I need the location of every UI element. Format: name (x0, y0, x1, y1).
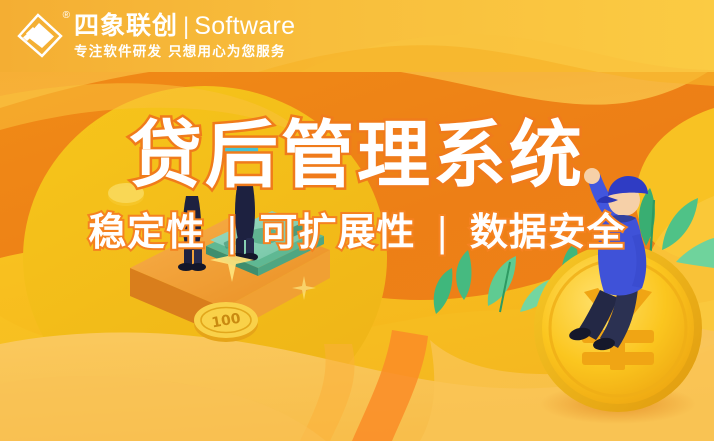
brand-name-cn: 四象联创 (74, 13, 178, 38)
small-coins (108, 183, 164, 240)
brand-row: 四象联创 | Software (74, 13, 295, 39)
brand-separator: | (183, 15, 189, 39)
diamond-layers-logo-icon (14, 10, 66, 62)
registered-trademark-icon: ® (63, 11, 70, 21)
teal-card (216, 139, 259, 156)
gold-coin-100: 100 (194, 302, 258, 342)
promo-banner: ® 四象联创 | Software 专注软件研发 只想用心为您服务 (0, 0, 714, 441)
brand-tagline: 专注软件研发 只想用心为您服务 (74, 46, 295, 60)
brand-name-en: Software (194, 14, 295, 39)
brand-lockup: 四象联创 | Software 专注软件研发 只想用心为您服务 (74, 13, 295, 60)
company-logo: ® (14, 10, 66, 62)
banner-header: ® 四象联创 | Software 专注软件研发 只想用心为您服务 (0, 0, 714, 72)
